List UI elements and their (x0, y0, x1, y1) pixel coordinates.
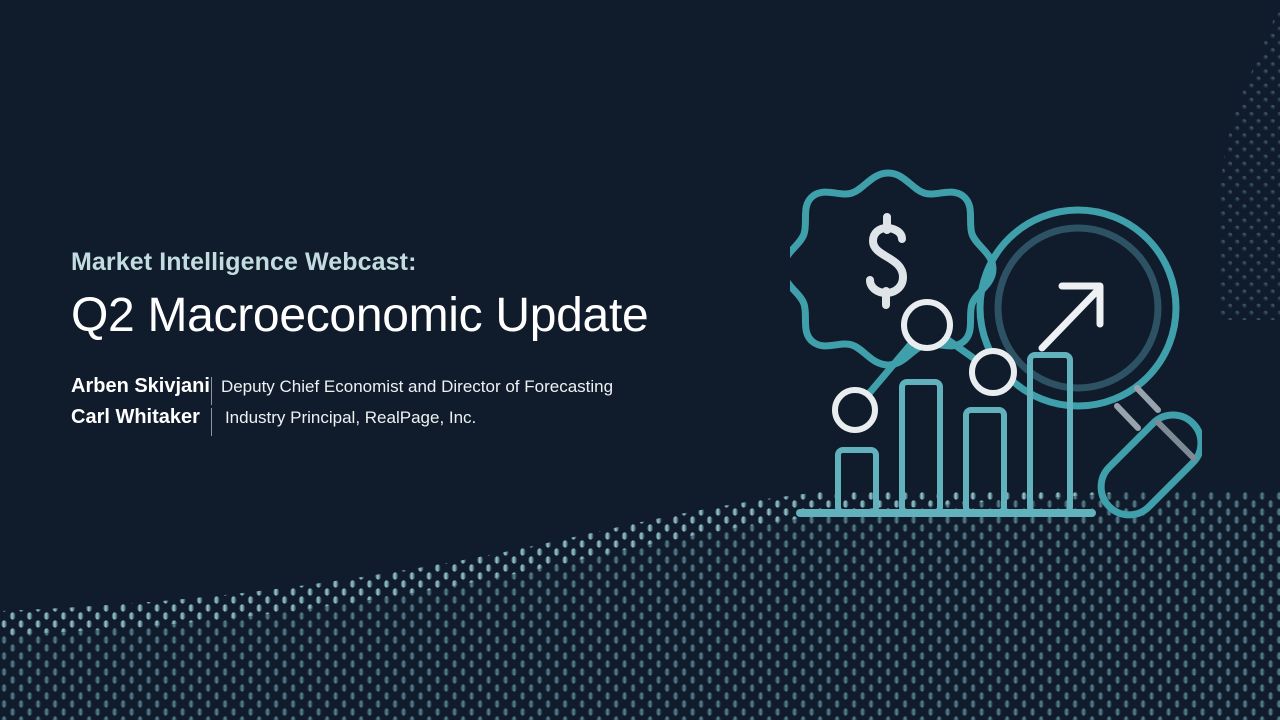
market-analysis-illustration (790, 160, 1202, 532)
dollar-badge-icon (790, 173, 993, 365)
speaker-title: Deputy Chief Economist and Director of F… (221, 377, 613, 397)
speaker-list: Arben Skivjani Deputy Chief Economist an… (71, 375, 771, 437)
magnifier-handle (1090, 403, 1202, 526)
speaker-row: Carl Whitaker Industry Principal, RealPa… (71, 406, 771, 437)
page-title: Q2 Macroeconomic Update (71, 290, 771, 343)
trend-node (972, 351, 1014, 393)
speaker-title: Industry Principal, RealPage, Inc. (225, 408, 476, 428)
title-text-block: Market Intelligence Webcast: Q2 Macroeco… (71, 248, 771, 437)
bar-1 (838, 450, 876, 512)
dollar-sign-glyph (870, 217, 903, 305)
magnifier-strut (1137, 388, 1158, 410)
bar-3 (966, 410, 1004, 512)
magnifier-strut (1117, 406, 1138, 428)
speaker-row: Arben Skivjani Deputy Chief Economist an… (71, 375, 771, 406)
trend-node (904, 302, 950, 348)
webcast-title-slide: Market Intelligence Webcast: Q2 Macroeco… (0, 0, 1280, 720)
speaker-name: Carl Whitaker (71, 406, 200, 429)
speaker-divider (211, 377, 212, 405)
eyebrow-label: Market Intelligence Webcast: (71, 248, 771, 277)
trend-node (835, 390, 875, 430)
trend-arrow-icon (1042, 286, 1100, 348)
speaker-name: Arben Skivjani (71, 375, 210, 398)
bar-2 (902, 382, 940, 512)
speaker-divider (211, 408, 212, 436)
